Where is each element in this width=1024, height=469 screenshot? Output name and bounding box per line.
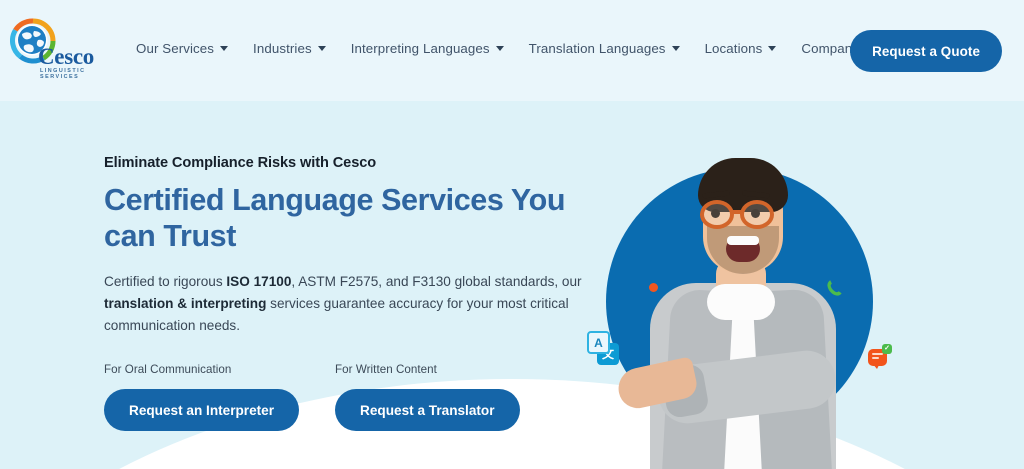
paragraph-part-2: , ASTM F2575, and F3130 global standards…	[291, 274, 581, 289]
request-interpreter-button[interactable]: Request an Interpreter	[104, 389, 299, 431]
nav-label: Interpreting Languages	[351, 41, 490, 56]
page-title: Certified Language Services You can Trus…	[104, 183, 604, 255]
person-glasses-left	[700, 200, 734, 229]
cta-caption-oral: For Oral Communication	[104, 363, 299, 376]
chevron-down-icon	[672, 46, 680, 51]
main-navigation: Our Services Industries Interpreting Lan…	[136, 41, 886, 56]
cta-caption-written: For Written Content	[335, 363, 519, 376]
nav-label: Locations	[705, 41, 763, 56]
chevron-down-icon	[496, 46, 504, 51]
person-glasses-bridge	[732, 210, 744, 214]
nav-item-industries[interactable]: Industries	[253, 41, 339, 56]
chat-bubble-icon: ✓	[868, 347, 890, 369]
hero-person-photo	[606, 168, 873, 435]
cta-group-written: For Written Content Request a Translator	[335, 363, 519, 431]
translate-icon-glyph-latin: A	[587, 331, 610, 354]
paragraph-bold-services: translation & interpreting	[104, 296, 266, 311]
brand-logo[interactable]: Cesco LINGUISTIC SERVICES	[8, 17, 112, 81]
brand-name: Cesco	[38, 44, 94, 70]
translate-icon: 文 A	[587, 331, 619, 365]
nav-item-interpreting-languages[interactable]: Interpreting Languages	[351, 41, 517, 56]
hero-copy: Eliminate Compliance Risks with Cesco Ce…	[104, 155, 604, 431]
chat-bubble-line	[872, 353, 883, 355]
cta-group-oral: For Oral Communication Request an Interp…	[104, 363, 299, 431]
nav-label: Our Services	[136, 41, 214, 56]
paragraph-bold-iso: ISO 17100	[226, 274, 291, 289]
nav-item-translation-languages[interactable]: Translation Languages	[529, 41, 693, 56]
check-badge-icon: ✓	[882, 344, 892, 354]
nav-item-our-services[interactable]: Our Services	[136, 41, 241, 56]
nav-label: Translation Languages	[529, 41, 666, 56]
chat-bubble-line	[872, 357, 879, 359]
hero-page: Cesco LINGUISTIC SERVICES Our Services I…	[0, 0, 1024, 469]
nav-label: Industries	[253, 41, 312, 56]
chevron-down-icon	[318, 46, 326, 51]
chat-bubble-tail	[872, 363, 880, 369]
phone-icon	[826, 279, 843, 297]
orange-dot-icon	[649, 283, 658, 292]
hero-visual	[596, 101, 1024, 469]
brand-tagline: LINGUISTIC SERVICES	[40, 68, 112, 80]
site-header: Cesco LINGUISTIC SERVICES Our Services I…	[0, 0, 1024, 101]
chevron-down-icon	[220, 46, 228, 51]
person-collar	[707, 284, 775, 320]
request-translator-button[interactable]: Request a Translator	[335, 389, 519, 431]
paragraph-part-1: Certified to rigorous	[104, 274, 226, 289]
request-quote-button[interactable]: Request a Quote	[850, 30, 1002, 72]
person-glasses-right	[740, 200, 774, 229]
nav-item-locations[interactable]: Locations	[705, 41, 790, 56]
hero-cta-row: For Oral Communication Request an Interp…	[104, 363, 604, 431]
hero-paragraph: Certified to rigorous ISO 17100, ASTM F2…	[104, 271, 584, 337]
chevron-down-icon	[768, 46, 776, 51]
hero-section: Eliminate Compliance Risks with Cesco Ce…	[0, 101, 1024, 469]
hero-eyebrow: Eliminate Compliance Risks with Cesco	[104, 155, 604, 171]
person-teeth	[727, 236, 759, 245]
